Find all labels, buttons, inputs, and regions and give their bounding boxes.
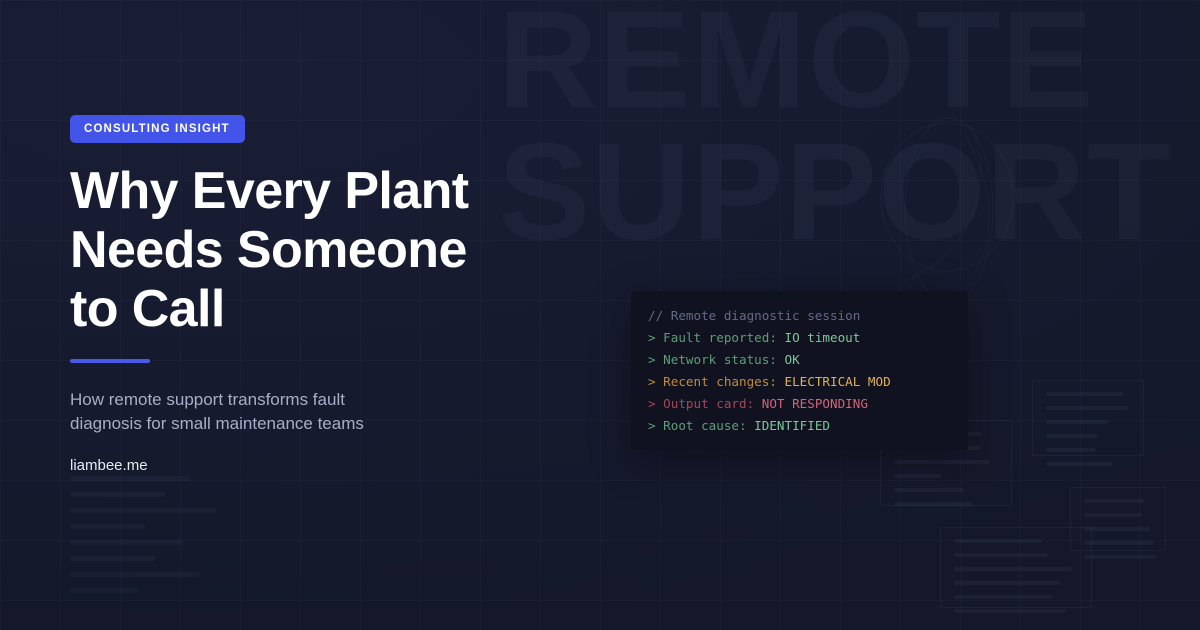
diagnostic-terminal: // Remote diagnostic session > Fault rep…: [631, 291, 968, 450]
terminal-line: > Root cause: IDENTIFIED: [648, 415, 951, 437]
social-card: REMOTE SUPPORT // Remote diagnostic sess…: [0, 0, 1200, 630]
terminal-value: IDENTIFIED: [754, 418, 830, 433]
decorative-line: [70, 508, 216, 513]
decorative-card-line: [894, 460, 990, 464]
spiral-swirl-icon: [845, 105, 1055, 320]
terminal-value: ELECTRICAL MOD: [785, 374, 891, 389]
decorative-text-lines: [70, 476, 216, 604]
decorative-line: [70, 588, 138, 593]
decorative-card-line: [1046, 434, 1098, 438]
page-title: Why Every Plant Needs Someone to Call: [70, 162, 610, 339]
terminal-line: > Recent changes: ELECTRICAL MOD: [648, 371, 951, 393]
decorative-card-line: [954, 609, 1066, 613]
decorative-card-line: [1046, 462, 1112, 466]
terminal-prompt: >: [648, 418, 663, 433]
decorative-card-line: [1084, 499, 1144, 503]
terminal-line-list: > Fault reported: IO timeout> Network st…: [648, 327, 951, 437]
decorative-card-line: [954, 581, 1060, 585]
terminal-label: Root cause:: [663, 418, 754, 433]
decorative-line: [70, 572, 200, 577]
terminal-value: OK: [785, 352, 800, 367]
terminal-prompt: >: [648, 374, 663, 389]
decorative-card-line: [894, 502, 972, 506]
terminal-comment: // Remote diagnostic session: [648, 305, 951, 327]
terminal-prompt: >: [648, 396, 663, 411]
content-column: CONSULTING INSIGHT Why Every Plant Needs…: [70, 0, 610, 474]
decorative-line: [70, 540, 182, 545]
page-subtitle: How remote support transforms fault diag…: [70, 388, 410, 436]
terminal-prompt: >: [648, 330, 663, 345]
decorative-card-line: [1084, 527, 1150, 531]
decorative-card-line: [1046, 392, 1124, 396]
terminal-label: Output card:: [663, 396, 762, 411]
terminal-label: Recent changes:: [663, 374, 784, 389]
decorative-line: [70, 524, 145, 529]
decorative-card-line: [1046, 420, 1108, 424]
terminal-line: > Output card: NOT RESPONDING: [648, 393, 951, 415]
decorative-card-line: [954, 539, 1042, 543]
terminal-label: Network status:: [663, 352, 784, 367]
decorative-document-card: [940, 527, 1092, 608]
terminal-line: > Network status: OK: [648, 349, 951, 371]
decorative-card-line: [894, 474, 942, 478]
decorative-card-line: [1046, 448, 1096, 452]
decorative-document-card: [1032, 380, 1144, 456]
decorative-card-line: [1084, 555, 1156, 559]
decorative-card-line: [1084, 513, 1142, 517]
decorative-line: [70, 556, 155, 561]
accent-underline: [70, 359, 150, 363]
decorative-card-line: [954, 567, 1072, 571]
terminal-value: IO timeout: [785, 330, 861, 345]
decorative-line: [70, 476, 190, 481]
decorative-card-line: [954, 553, 1048, 557]
decorative-line: [70, 492, 165, 497]
terminal-label: Fault reported:: [663, 330, 784, 345]
terminal-value: NOT RESPONDING: [762, 396, 868, 411]
site-url[interactable]: liambee.me: [70, 457, 610, 474]
decorative-card-line: [1084, 541, 1154, 545]
category-badge[interactable]: CONSULTING INSIGHT: [70, 115, 245, 143]
decorative-card-line: [1046, 406, 1128, 410]
terminal-line: > Fault reported: IO timeout: [648, 327, 951, 349]
decorative-card-line: [954, 595, 1052, 599]
decorative-card-line: [894, 488, 964, 492]
terminal-prompt: >: [648, 352, 663, 367]
